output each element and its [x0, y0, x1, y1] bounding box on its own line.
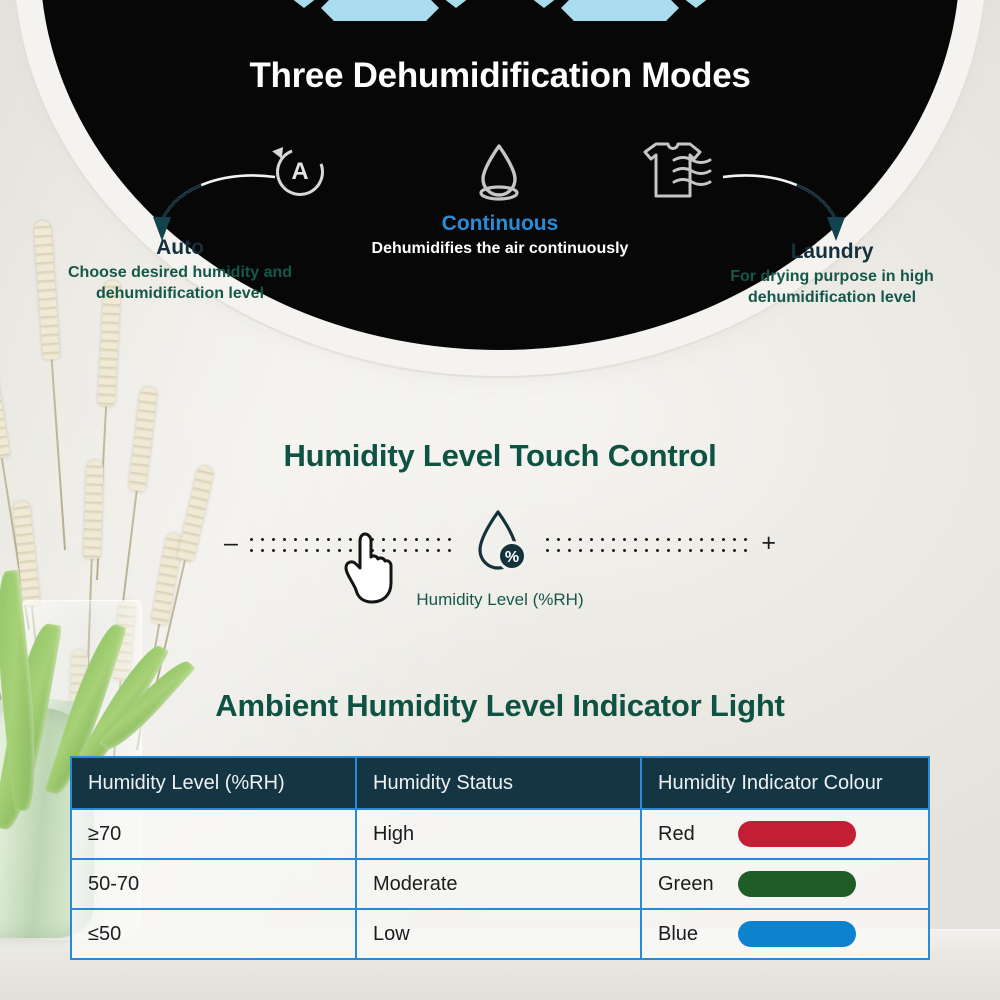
slider-caption: Humidity Level (%RH): [416, 590, 583, 610]
table-row: 50-70 Moderate Green: [71, 859, 929, 909]
touch-control-section: Humidity Level Touch Control – + % Humid…: [0, 438, 1000, 570]
laundry-mode-description: For drying purpose in high dehumidificat…: [672, 266, 992, 308]
continuous-mode-name: Continuous: [360, 212, 640, 236]
table-row: ≤50 Low Blue: [71, 909, 929, 959]
colour-swatch-green: [738, 871, 856, 897]
auto-mode-name: Auto: [30, 236, 330, 260]
header-humidity-level: Humidity Level (%RH): [71, 757, 356, 809]
cell-indicator-colour: Red: [641, 809, 929, 859]
auto-mode-icon: A: [268, 142, 336, 204]
cell-humidity-status: Low: [356, 909, 641, 959]
segment-upper-right: [683, 0, 709, 8]
percent-symbol: %: [505, 549, 519, 566]
laundry-shirt-icon: [640, 140, 718, 202]
table-header: Humidity Level (%RH) Humidity Status Hum…: [71, 757, 929, 809]
indicator-table-section: Ambient Humidity Level Indicator Light H…: [0, 688, 1000, 960]
header-humidity-status: Humidity Status: [356, 757, 641, 809]
table-header-row: Humidity Level (%RH) Humidity Status Hum…: [71, 757, 929, 809]
indicator-table-title: Ambient Humidity Level Indicator Light: [0, 688, 1000, 724]
colour-swatch-blue: [738, 921, 856, 947]
colour-name: Blue: [658, 923, 738, 946]
segment-middle: [321, 0, 439, 21]
touch-control-title: Humidity Level Touch Control: [0, 438, 1000, 474]
plus-icon[interactable]: +: [761, 531, 776, 556]
cell-humidity-level: ≥70: [71, 809, 356, 859]
colour-swatch-red: [738, 821, 856, 847]
header-indicator-colour: Humidity Indicator Colour: [641, 757, 929, 809]
table-body: ≥70 High Red 50-70 Moderate Green ≤50 Lo…: [71, 809, 929, 959]
water-drop-icon: [466, 140, 532, 206]
continuous-mode-label-block: Continuous Dehumidifies the air continuo…: [360, 212, 640, 259]
segment-digit-right: [525, 0, 715, 34]
cell-humidity-status: Moderate: [356, 859, 641, 909]
segment-middle: [561, 0, 679, 21]
segment-upper-left: [531, 0, 557, 8]
auto-letter-a: A: [276, 148, 324, 196]
segment-upper-left: [291, 0, 317, 8]
humidity-slider[interactable]: – + % Humidity Level (%RH): [220, 522, 780, 570]
humidity-percent-drop-icon: %: [468, 508, 532, 580]
auto-mode-description: Choose desired humidity and dehumidifica…: [30, 262, 330, 304]
segment-digit-left: [285, 0, 475, 34]
slider-dot-track-right[interactable]: [542, 532, 754, 554]
segment-upper-right: [443, 0, 469, 8]
laundry-mode-label-block: Laundry For drying purpose in high dehum…: [672, 240, 992, 308]
cell-humidity-level: 50-70: [71, 859, 356, 909]
modes-panel-title: Three Dehumidification Modes: [0, 56, 1000, 96]
cell-indicator-colour: Green: [641, 859, 929, 909]
auto-mode-label-block: Auto Choose desired humidity and dehumid…: [30, 236, 330, 304]
table-row: ≥70 High Red: [71, 809, 929, 859]
continuous-mode-description: Dehumidifies the air continuously: [360, 238, 640, 259]
humidity-indicator-table: Humidity Level (%RH) Humidity Status Hum…: [70, 756, 930, 960]
laundry-mode-name: Laundry: [672, 240, 992, 264]
minus-icon[interactable]: –: [224, 531, 238, 556]
pointing-hand-cursor-icon: [342, 528, 398, 604]
colour-name: Red: [658, 823, 738, 846]
colour-name: Green: [658, 873, 738, 896]
cell-humidity-status: High: [356, 809, 641, 859]
seven-segment-display: [285, 0, 715, 34]
cell-humidity-level: ≤50: [71, 909, 356, 959]
cell-indicator-colour: Blue: [641, 909, 929, 959]
